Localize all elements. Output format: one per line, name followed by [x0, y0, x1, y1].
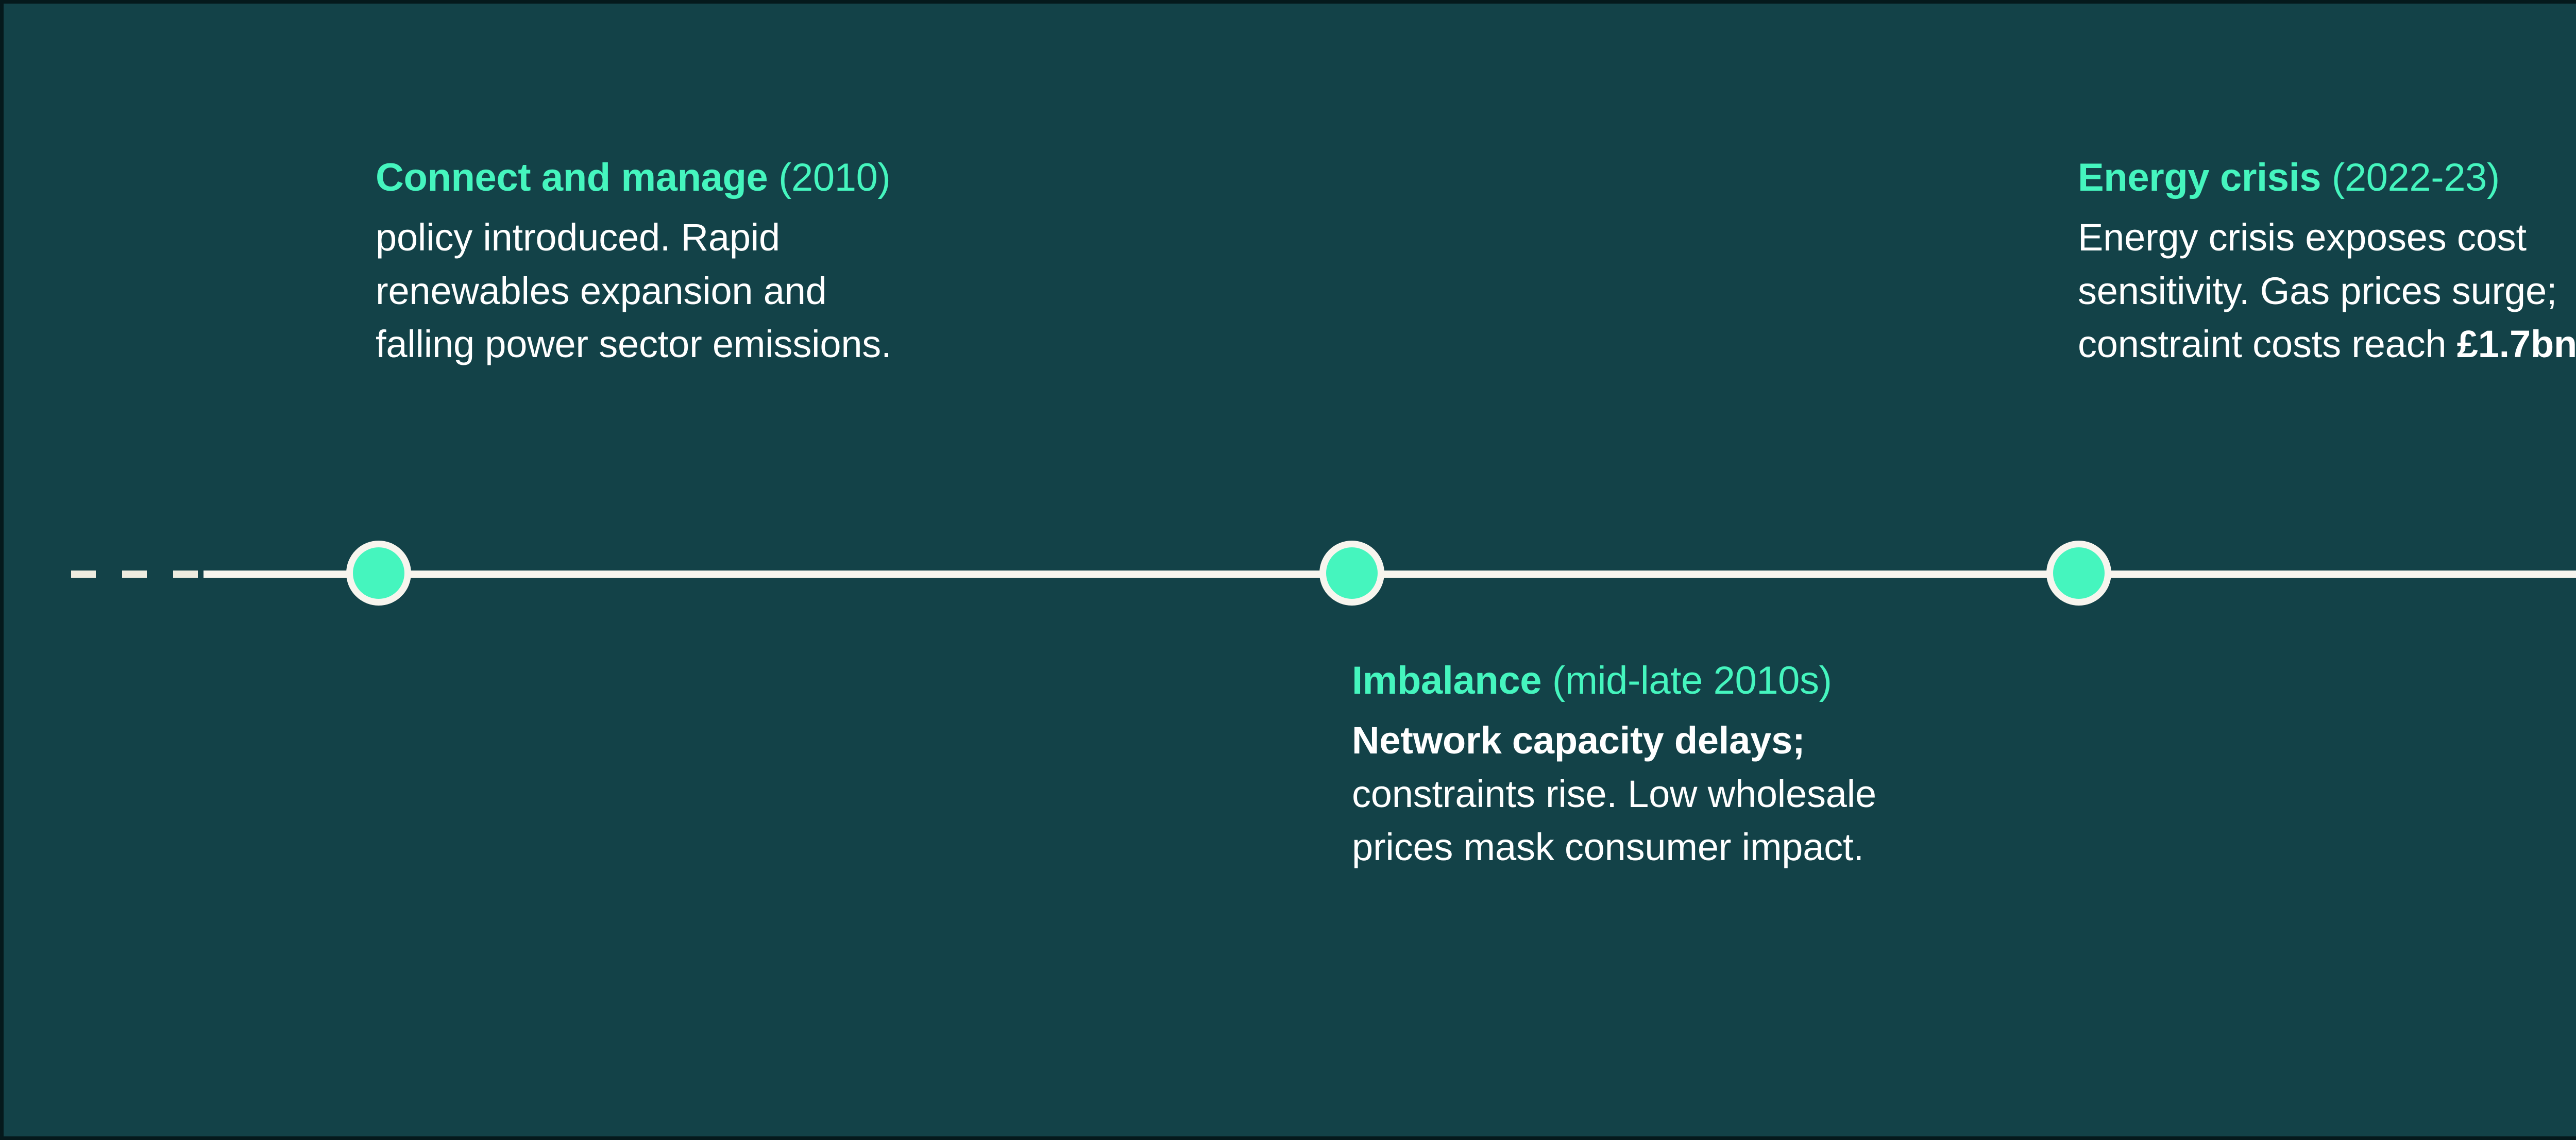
event-body-line: falling power sector emissions. [376, 323, 891, 365]
axis-dash-leading-2 [122, 571, 147, 578]
timeline-dot-energy-crisis[interactable] [2046, 541, 2111, 606]
axis-dash-leading-1 [71, 571, 96, 578]
event-heading-energy-crisis: Energy crisis (2022-23) [2078, 158, 2576, 197]
event-title-connect-and-manage: Connect and manage [376, 156, 768, 199]
event-body-line: constraint costs reach [2078, 323, 2457, 365]
event-body-line: Energy crisis exposes cost [2078, 216, 2527, 259]
event-period-imbalance: (mid-late 2010s) [1552, 659, 1832, 702]
axis-solid-line [204, 571, 2576, 578]
event-body-emphasis: £1.7bn. [2457, 323, 2576, 365]
event-period-energy-crisis: (2022-23) [2332, 156, 2500, 199]
axis-dash-leading-3 [173, 571, 198, 578]
event-body-connect-and-manage: policy introduced. Rapid renewables expa… [376, 211, 1354, 371]
event-body-line: prices mask consumer impact. [1352, 826, 1864, 868]
event-block-connect-and-manage: Connect and manage (2010) policy introdu… [376, 158, 1354, 371]
event-block-energy-crisis: Energy crisis (2022-23) Energy crisis ex… [2078, 158, 2576, 371]
event-body-line: constraints rise. Low wholesale [1352, 773, 1876, 815]
event-body-energy-crisis: Energy crisis exposes cost sensitivity. … [2078, 211, 2576, 371]
event-title-imbalance: Imbalance [1352, 659, 1541, 702]
event-block-imbalance: Imbalance (mid-late 2010s) Network capac… [1352, 661, 2331, 874]
event-body-line: policy introduced. Rapid [376, 216, 780, 259]
event-body-imbalance: Network capacity delays; constraints ris… [1352, 714, 2331, 874]
timeline-infographic: REGEN Connect and manage (2010) policy i… [0, 0, 2576, 1140]
event-period-connect-and-manage: (2010) [778, 156, 890, 199]
event-body-emphasis: Network capacity delays; [1352, 719, 1805, 762]
event-heading-imbalance: Imbalance (mid-late 2010s) [1352, 661, 2331, 700]
event-body-line: renewables expansion and [376, 270, 827, 312]
timeline-dot-connect-and-manage[interactable] [346, 541, 411, 606]
event-title-energy-crisis: Energy crisis [2078, 156, 2321, 199]
event-heading-connect-and-manage: Connect and manage (2010) [376, 158, 1354, 197]
timeline-dot-imbalance[interactable] [1319, 541, 1384, 606]
event-body-line: sensitivity. Gas prices surge; [2078, 270, 2557, 312]
